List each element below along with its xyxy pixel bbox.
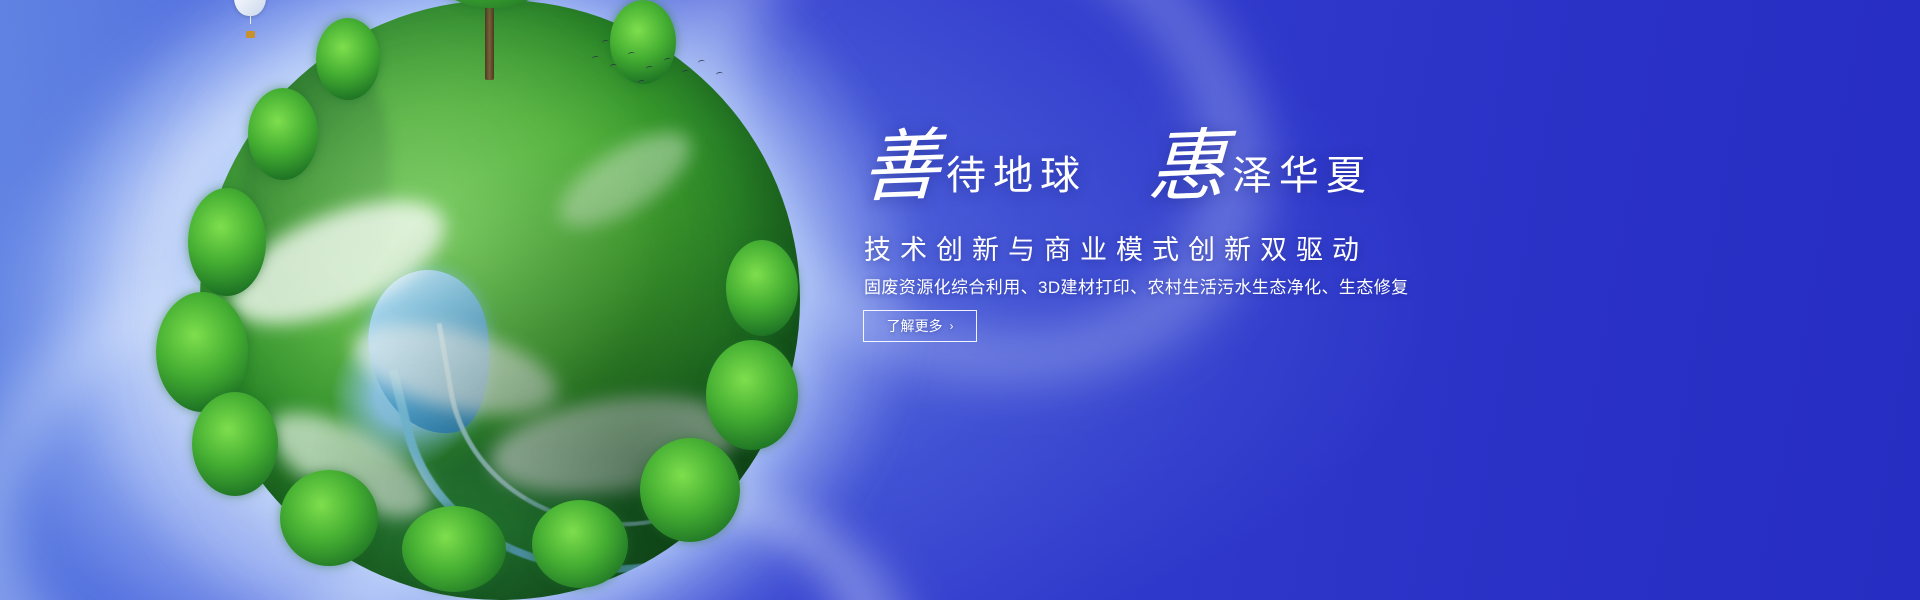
tree-icon — [610, 0, 676, 84]
hero-banner: 善待地球 惠泽华夏 技术创新与商业模式创新双驱动 固废资源化综合利用、3D建材打… — [0, 0, 1920, 600]
headline-phrase-2: 惠泽华夏 — [1148, 128, 1373, 206]
learn-more-label: 了解更多 — [887, 316, 943, 336]
headline-text-zehuaxia: 泽华夏 — [1232, 156, 1373, 196]
tree-icon — [726, 240, 798, 336]
tree-icon — [248, 88, 318, 180]
tree-trunk-top — [485, 0, 494, 80]
headline-glyph-shan: 善 — [861, 127, 942, 208]
chevron-right-icon: › — [950, 320, 954, 332]
hero-content: 善待地球 惠泽华夏 技术创新与商业模式创新双驱动 固废资源化综合利用、3D建材打… — [862, 0, 1762, 600]
tree-icon — [706, 340, 798, 450]
headline-text-daidiqiu: 待地球 — [946, 156, 1087, 196]
globe-illustration — [140, 0, 860, 600]
tree-icon — [640, 438, 740, 542]
learn-more-button[interactable]: 了解更多 › — [863, 310, 977, 342]
hot-air-balloon-icon — [234, 0, 266, 38]
tree-icon — [316, 18, 380, 100]
headline-glyph-hui: 惠 — [1146, 127, 1227, 208]
page-title: 善待地球 惠泽华夏 — [862, 128, 1373, 206]
tree-icon — [280, 470, 378, 566]
tree-icon — [532, 500, 628, 588]
headline-phrase-1: 善待地球 — [862, 128, 1087, 206]
tree-icon — [402, 506, 506, 592]
tree-icon — [192, 392, 278, 496]
page-description: 固废资源化综合利用、3D建材打印、农村生活污水生态净化、生态修复 — [864, 273, 1409, 298]
page-subtitle: 技术创新与商业模式创新双驱动 — [864, 228, 1368, 267]
tree-icon — [188, 188, 266, 296]
